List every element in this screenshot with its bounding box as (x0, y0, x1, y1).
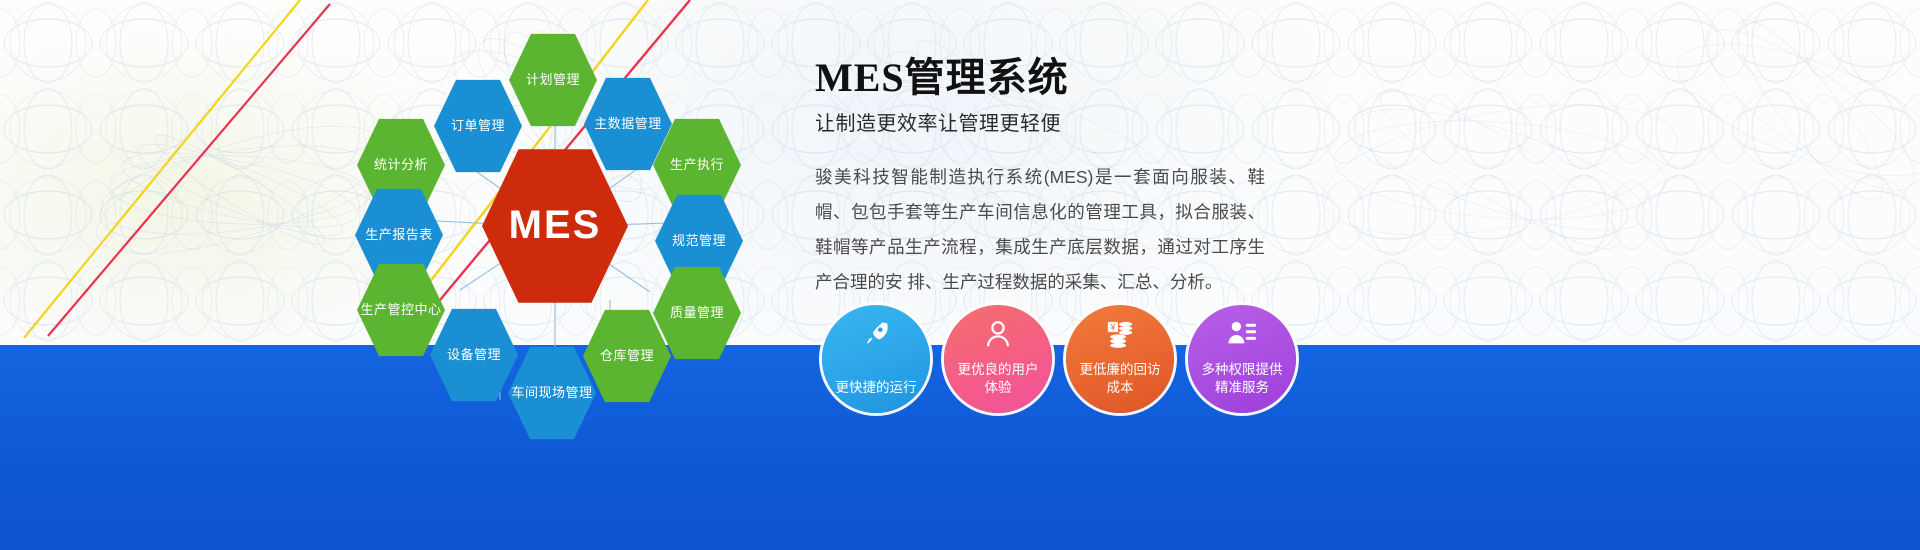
svg-text:¥: ¥ (1111, 323, 1116, 332)
hex-node-label: 仓库管理 (600, 348, 654, 363)
feature-badge-label: 更快捷的运行 (829, 379, 923, 397)
feature-badge-list: 更快捷的运行 更优良的用户体验 ¥ (822, 305, 1296, 413)
hex-node-label: 生产执行 (670, 157, 724, 172)
mes-hexagon-diagram: 计划管理 订单管理 主数据管理 生产执行 统计分析 规范管理 生产报告表 质量管… (300, 0, 820, 440)
feature-badge-label: 更优良的用户体验 (951, 361, 1045, 397)
hero-text-block: MES管理系统 让制造更效率让管理更轻便 骏美科技智能制造执行系统(MES)是一… (815, 56, 1335, 300)
hex-node-label: 规范管理 (672, 233, 726, 248)
hex-node-label: 生产管控中心 (360, 302, 441, 317)
hex-node-label: 主数据管理 (594, 116, 662, 131)
feature-badge-lower-revisit-cost[interactable]: ¥ 更低廉的回访成本 (1066, 305, 1174, 413)
user-icon (983, 319, 1013, 349)
hex-center-label: MES (509, 202, 602, 249)
hero-description: 骏美科技智能制造执行系统(MES)是一套面向服装、鞋帽、包包手套等生产车间信息化… (815, 160, 1265, 300)
feature-badge-label: 多种权限提供精准服务 (1195, 361, 1289, 397)
page-subtitle: 让制造更效率让管理更轻便 (815, 107, 1335, 136)
hex-node-label: 生产报告表 (365, 227, 433, 242)
hex-node-label: 质量管理 (670, 305, 724, 320)
page-title: MES管理系统 (815, 56, 1335, 101)
rocket-icon (861, 319, 891, 349)
hex-node-label: 订单管理 (451, 118, 505, 133)
user-list-icon (1227, 319, 1257, 349)
feature-badge-multi-permission-service[interactable]: 多种权限提供精准服务 (1188, 305, 1296, 413)
coins-icon: ¥ (1105, 319, 1135, 349)
feature-badge-faster-operation[interactable]: 更快捷的运行 (822, 305, 930, 413)
mes-banner: 计划管理 订单管理 主数据管理 生产执行 统计分析 规范管理 生产报告表 质量管… (0, 0, 1920, 550)
hex-node-label: 设备管理 (447, 347, 501, 362)
hex-node-label: 统计分析 (374, 157, 428, 172)
feature-badge-label: 更低廉的回访成本 (1073, 361, 1167, 397)
hex-node-label: 车间现场管理 (511, 385, 592, 400)
hex-node-label: 计划管理 (526, 72, 580, 87)
feature-badge-better-user-experience[interactable]: 更优良的用户体验 (944, 305, 1052, 413)
